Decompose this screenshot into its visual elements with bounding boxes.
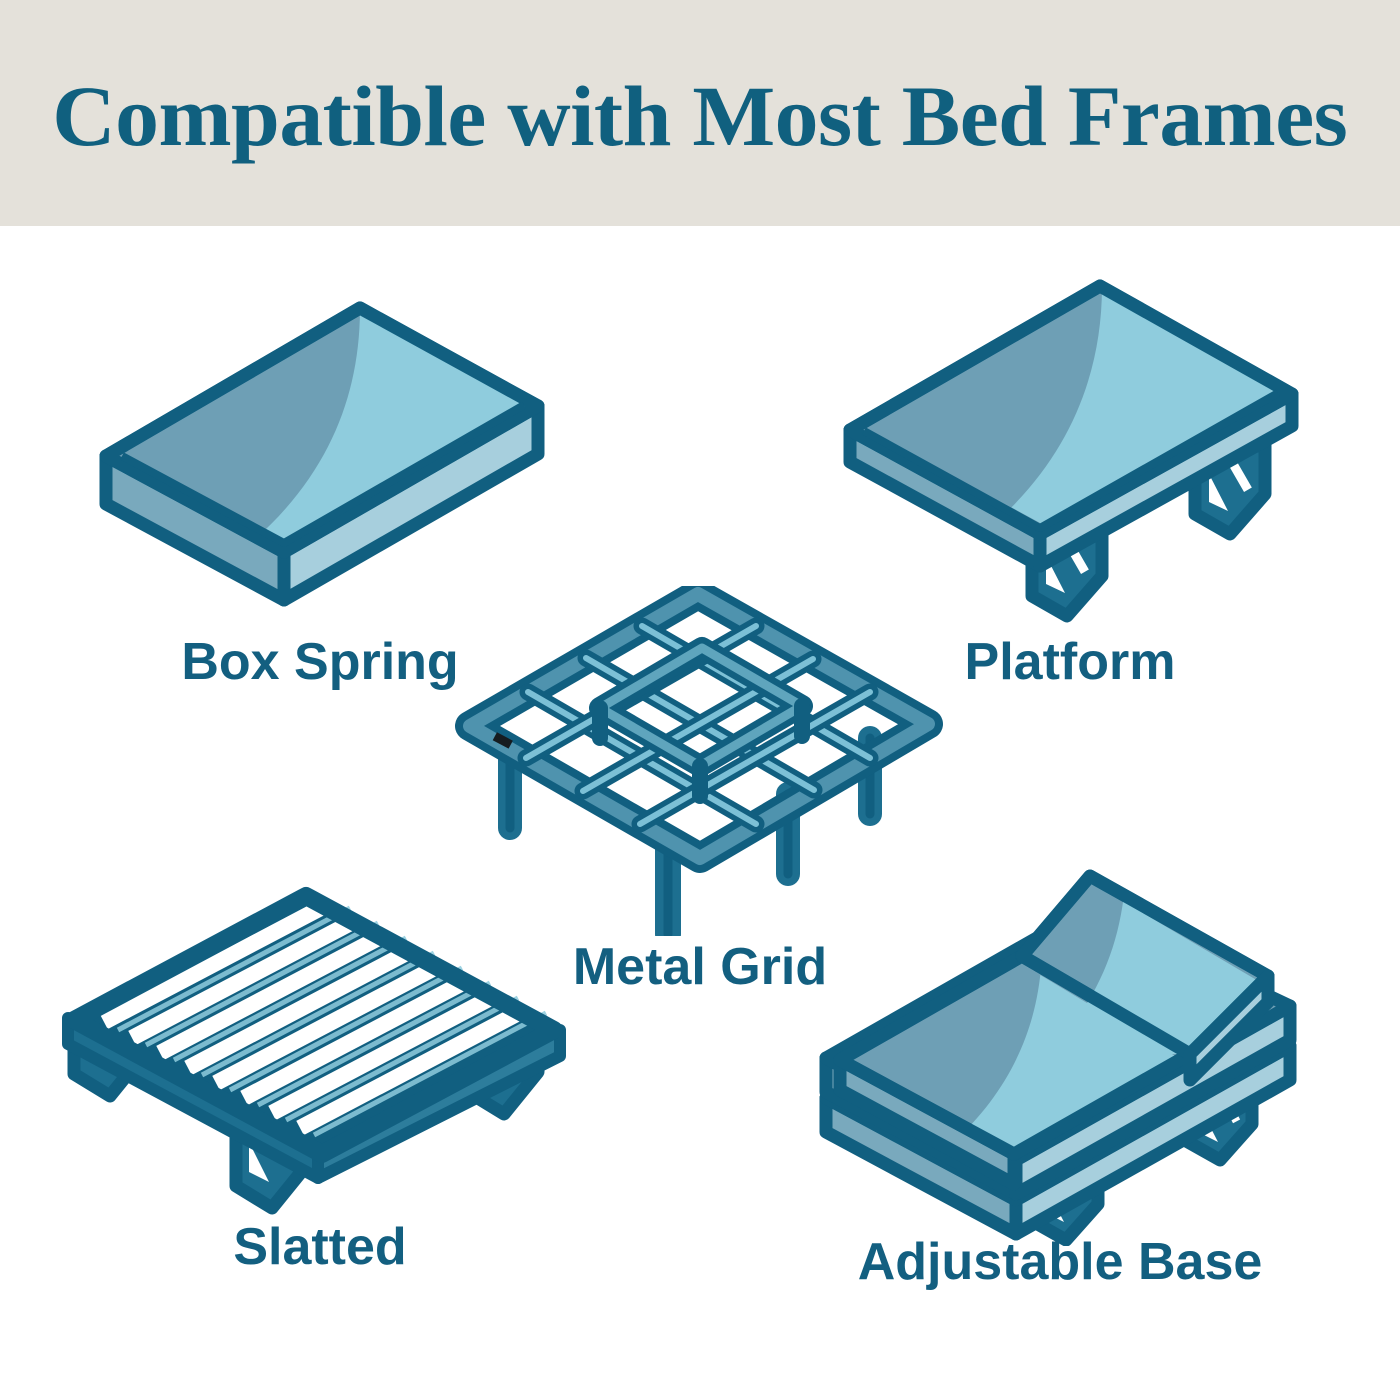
slatted-icon (60, 886, 580, 1216)
item-slatted: Slatted (60, 886, 580, 1316)
page-title: Compatible with Most Bed Frames (53, 73, 1348, 159)
box-spring-icon (60, 266, 580, 626)
item-label-slatted: Slatted (60, 1221, 580, 1273)
infographic-canvas: Compatible with Most Bed Frames (0, 0, 1400, 1400)
illustration-stage: Box Spring (0, 226, 1400, 1400)
platform-icon (810, 266, 1330, 626)
item-label-adjustable-base: Adjustable Base (790, 1236, 1330, 1288)
adjustable-base-icon (790, 846, 1330, 1246)
item-adjustable-base: Adjustable Base (790, 846, 1330, 1316)
header-band: Compatible with Most Bed Frames (0, 0, 1400, 226)
